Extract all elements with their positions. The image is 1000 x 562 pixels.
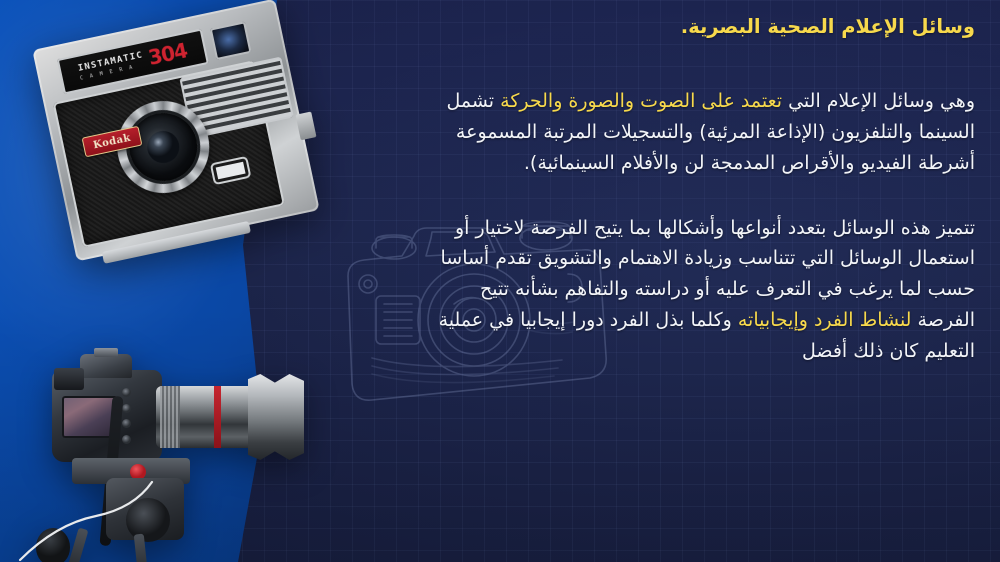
dslr-control-buttons — [122, 388, 134, 444]
camera-model-number: 304 — [147, 40, 189, 68]
camera-lens-barrel — [123, 107, 204, 188]
dslr-button — [122, 435, 131, 444]
paragraph-one-segment-plain-1: وهي وسائل الإعلام التي — [782, 90, 975, 112]
paragraph-one: وهي وسائل الإعلام التي تعتمد على الصوت و… — [420, 86, 975, 178]
dslr-button — [122, 404, 131, 413]
dslr-viewfinder-cup — [54, 368, 84, 390]
dslr-button — [122, 419, 131, 428]
slide-canvas: INSTAMATIC C A M E R A 304 Kodak — [0, 0, 1000, 562]
dslr-lens-hood — [248, 374, 304, 460]
shutter-release-cable — [10, 472, 190, 562]
camera-kodak-badge-text: Kodak — [92, 132, 132, 151]
dslr-pentaprism — [80, 354, 132, 378]
paragraph-one-highlight: تعتمد على الصوت والصورة والحركة — [500, 90, 782, 112]
dslr-hotshoe — [94, 348, 118, 357]
dslr-focus-ring — [160, 386, 180, 448]
paragraph-two: تتميز هذه الوسائل بتعدد أنواعها وأشكالها… — [420, 213, 975, 367]
paragraph-two-highlight: لنشاط الفرد وإيجابياته — [738, 309, 912, 331]
camera-lens-glass — [144, 128, 183, 167]
dslr-on-tripod-photo — [10, 352, 300, 562]
text-content-column: وسائل الإعلام الصحية البصرية. وهي وسائل … — [420, 14, 975, 366]
page-title: وسائل الإعلام الصحية البصرية. — [420, 14, 975, 40]
dslr-button — [122, 388, 131, 397]
